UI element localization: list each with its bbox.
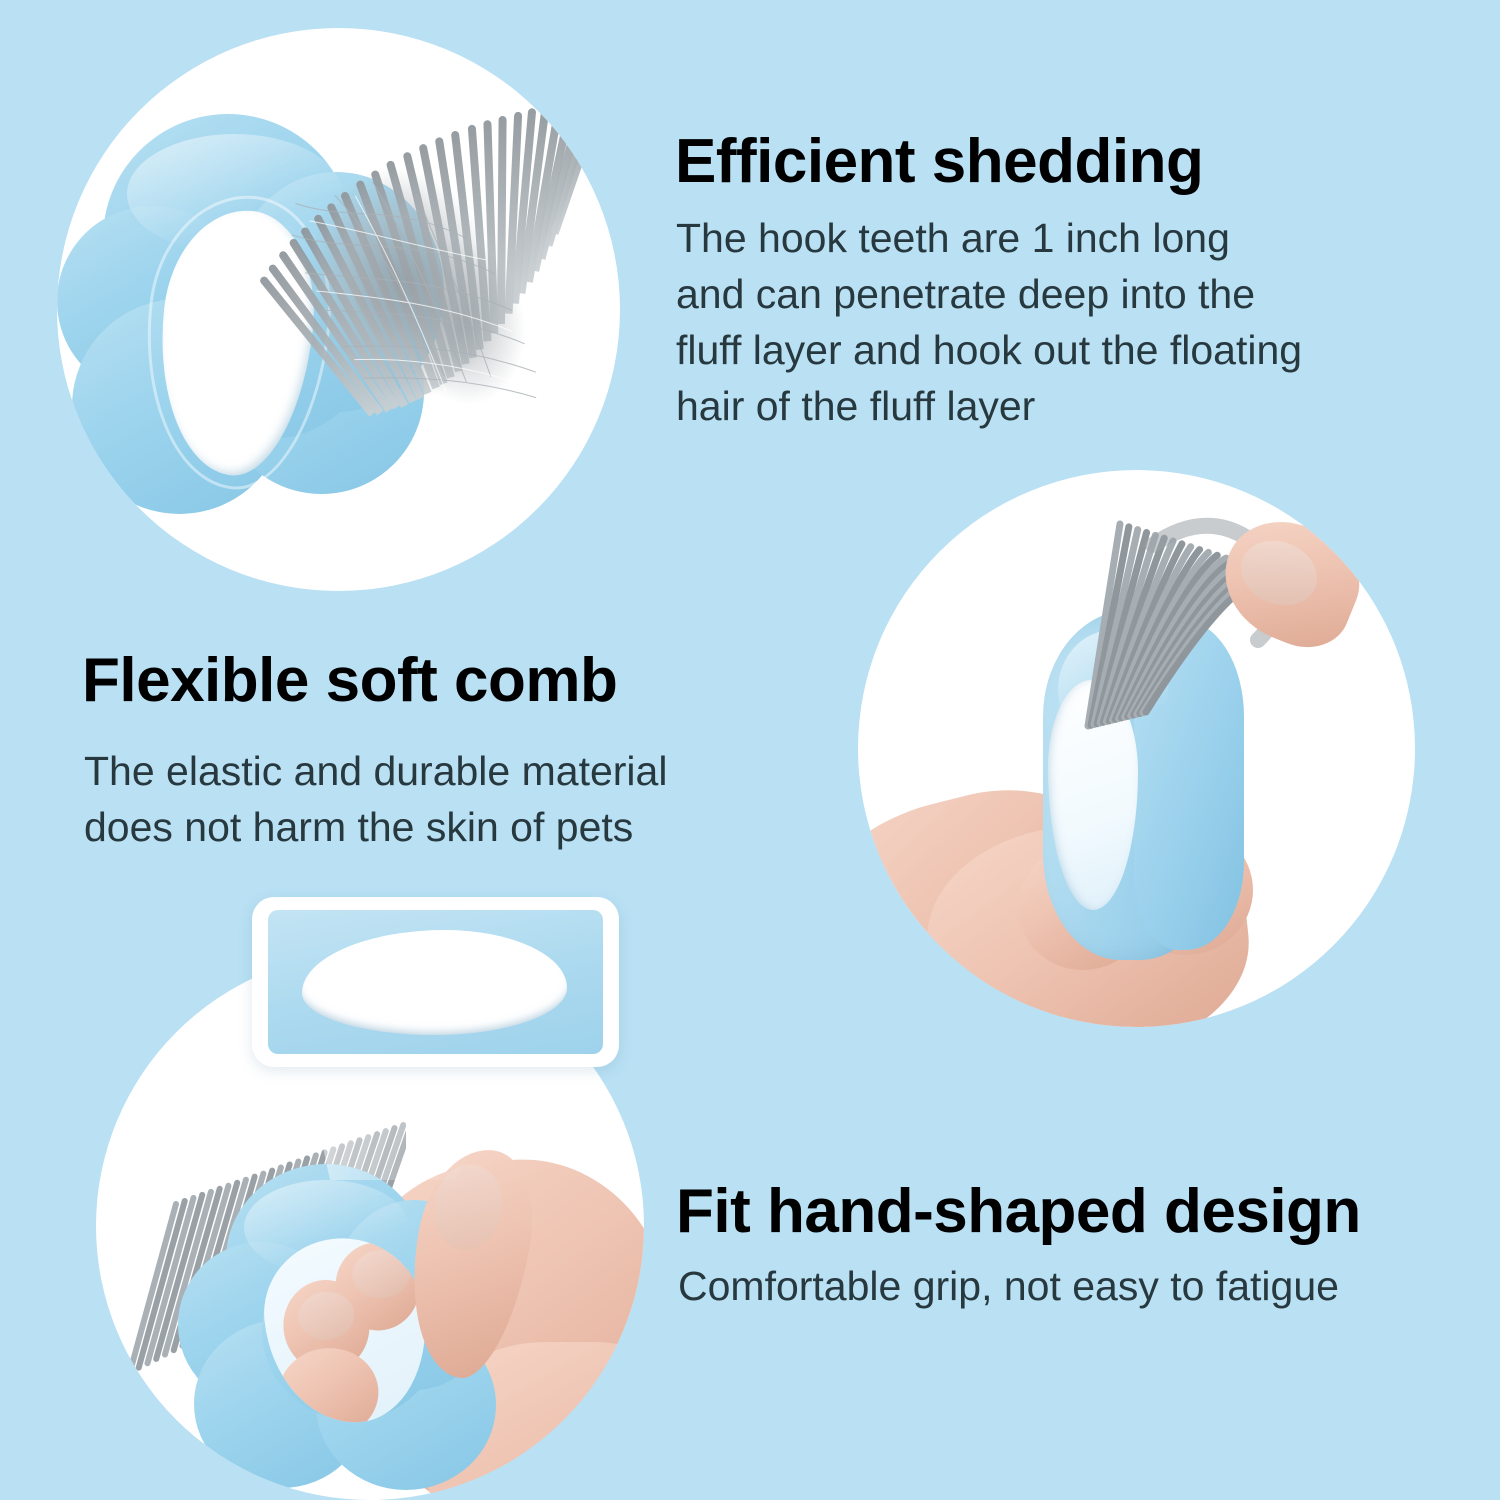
callout-handle-cutout xyxy=(252,897,619,1067)
body-line: The hook teeth are 1 inch long xyxy=(676,210,1302,266)
photo-brush-with-fur xyxy=(57,28,620,591)
feature-body-efficient-shedding: The hook teeth are 1 inch long and can p… xyxy=(676,210,1302,434)
body-line: and can penetrate deep into the xyxy=(676,266,1302,322)
body-line: hair of the fluff layer xyxy=(676,378,1302,434)
photo-flexing-teeth xyxy=(858,470,1415,1027)
callout-handle-body xyxy=(268,910,603,1054)
feature-body-flexible-soft-comb: The elastic and durable material does no… xyxy=(84,743,667,855)
feature-heading-fit-hand-shaped-design: Fit hand-shaped design xyxy=(676,1176,1361,1247)
callout-handle-opening xyxy=(302,930,567,1035)
feature-heading-efficient-shedding: Efficient shedding xyxy=(675,126,1203,197)
feature-body-fit-hand-shaped-design: Comfortable grip, not easy to fatigue xyxy=(678,1258,1339,1314)
infographic-stage: Efficient shedding The hook teeth are 1 … xyxy=(0,0,1500,1500)
feature-heading-flexible-soft-comb: Flexible soft comb xyxy=(82,645,617,716)
body-line: does not harm the skin of pets xyxy=(84,799,667,855)
body-line: fluff layer and hook out the floating xyxy=(676,322,1302,378)
body-line: The elastic and durable material xyxy=(84,743,667,799)
body-line: Comfortable grip, not easy to fatigue xyxy=(678,1258,1339,1314)
